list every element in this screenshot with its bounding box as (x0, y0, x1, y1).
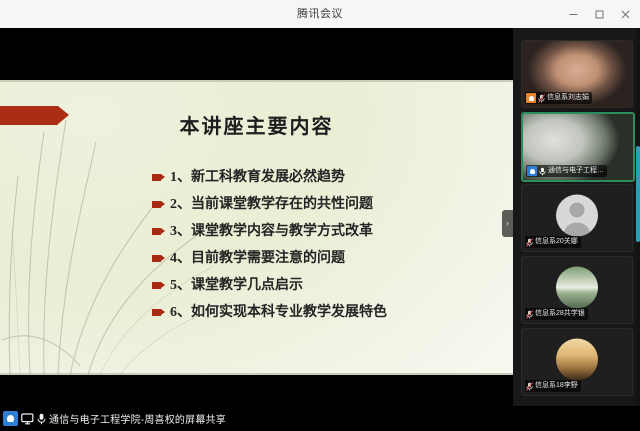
bullet-text: 2、当前课堂教学存在的共性问题 (170, 197, 373, 212)
mic-on-icon (539, 167, 546, 176)
participant-panel: 信息系刘志娟 通信与电子工程… (513, 28, 640, 406)
mic-muted-icon (526, 382, 533, 391)
bullet-text: 1、新工科教育发展必然趋势 (170, 170, 345, 185)
title-bar: 腾讯会议 (0, 0, 640, 29)
arrow-bullet-icon (152, 282, 161, 289)
participant-name-bar: 信息系20关娜 (525, 236, 581, 248)
shared-screen-stage[interactable]: 本讲座主要内容 1、新工科教育发展必然趋势 2、当前课堂教学存在的共性问题 3、… (0, 28, 513, 406)
avatar (3, 411, 18, 426)
arrow-bullet-icon (152, 201, 161, 208)
arrow-bullet-icon (152, 255, 161, 262)
screen-share-status-text: 通信与电子工程学院-周喜权的屏幕共享 (49, 411, 226, 426)
bullet-text: 4、目前教学需要注意的问题 (170, 251, 345, 266)
collapse-panel-handle[interactable]: › (502, 210, 513, 237)
participant-name-bar: 信息系刘志娟 (525, 92, 592, 104)
avatar (556, 266, 598, 308)
avatar (556, 194, 598, 236)
participant-name: 通信与电子工程… (548, 165, 604, 177)
tencent-meeting-window: 腾讯会议 (0, 0, 640, 431)
participant-name-bar: 信息系28共学银 (525, 308, 588, 320)
participant-name: 信息系20关娜 (535, 236, 578, 248)
arrow-bullet-icon (152, 309, 161, 316)
screen-share-status-bar: 通信与电子工程学院-周喜权的屏幕共享 (0, 406, 640, 431)
participant-name-bar: 信息系18李野 (525, 380, 581, 392)
list-item: 2、当前课堂教学存在的共性问题 (152, 191, 482, 218)
minimize-icon[interactable] (560, 3, 586, 25)
slide-bullet-list: 1、新工科教育发展必然趋势 2、当前课堂教学存在的共性问题 3、课堂教学内容与教… (152, 164, 482, 326)
panel-scrollbar[interactable] (636, 28, 640, 406)
avatar (527, 166, 537, 176)
list-item: 3、课堂教学内容与教学方式改革 (152, 218, 482, 245)
list-item: 4、目前教学需要注意的问题 (152, 245, 482, 272)
window-title: 腾讯会议 (0, 0, 640, 28)
mic-muted-icon (526, 238, 533, 247)
bullet-text: 5、课堂教学几点启示 (170, 278, 303, 293)
participant-tile[interactable]: 信息系20关娜 (521, 184, 633, 252)
participant-name-bar: 通信与电子工程… (526, 165, 607, 177)
bullet-text: 3、课堂教学内容与教学方式改革 (170, 224, 373, 239)
participant-tile[interactable]: 信息系刘志娟 (521, 40, 633, 108)
arrow-bullet-icon (152, 228, 161, 235)
mic-muted-icon (538, 94, 545, 103)
participant-tile[interactable]: 信息系18李野 (521, 328, 633, 396)
participant-name: 信息系刘志娟 (547, 92, 589, 104)
window-controls (560, 0, 638, 28)
participant-name: 信息系28共学银 (535, 308, 585, 320)
participant-tile[interactable]: 信息系28共学银 (521, 256, 633, 324)
arrow-bullet-icon (152, 174, 161, 181)
screen-share-icon (21, 413, 34, 425)
list-item: 5、课堂教学几点启示 (152, 272, 482, 299)
mic-muted-icon (526, 310, 533, 319)
avatar (526, 93, 536, 103)
close-icon[interactable] (612, 3, 638, 25)
slide-title: 本讲座主要内容 (0, 110, 513, 139)
avatar (556, 338, 598, 380)
maximize-icon[interactable] (586, 3, 612, 25)
list-item: 6、如何实现本科专业教学发展特色 (152, 299, 482, 326)
participant-name: 信息系18李野 (535, 380, 578, 392)
bullet-text: 6、如何实现本科专业教学发展特色 (170, 305, 387, 320)
list-item: 1、新工科教育发展必然趋势 (152, 164, 482, 191)
mic-icon (37, 413, 46, 425)
participant-tile[interactable]: 通信与电子工程… (521, 112, 635, 182)
presentation-slide: 本讲座主要内容 1、新工科教育发展必然趋势 2、当前课堂教学存在的共性问题 3、… (0, 80, 513, 375)
panel-scrollbar-thumb[interactable] (636, 146, 640, 242)
